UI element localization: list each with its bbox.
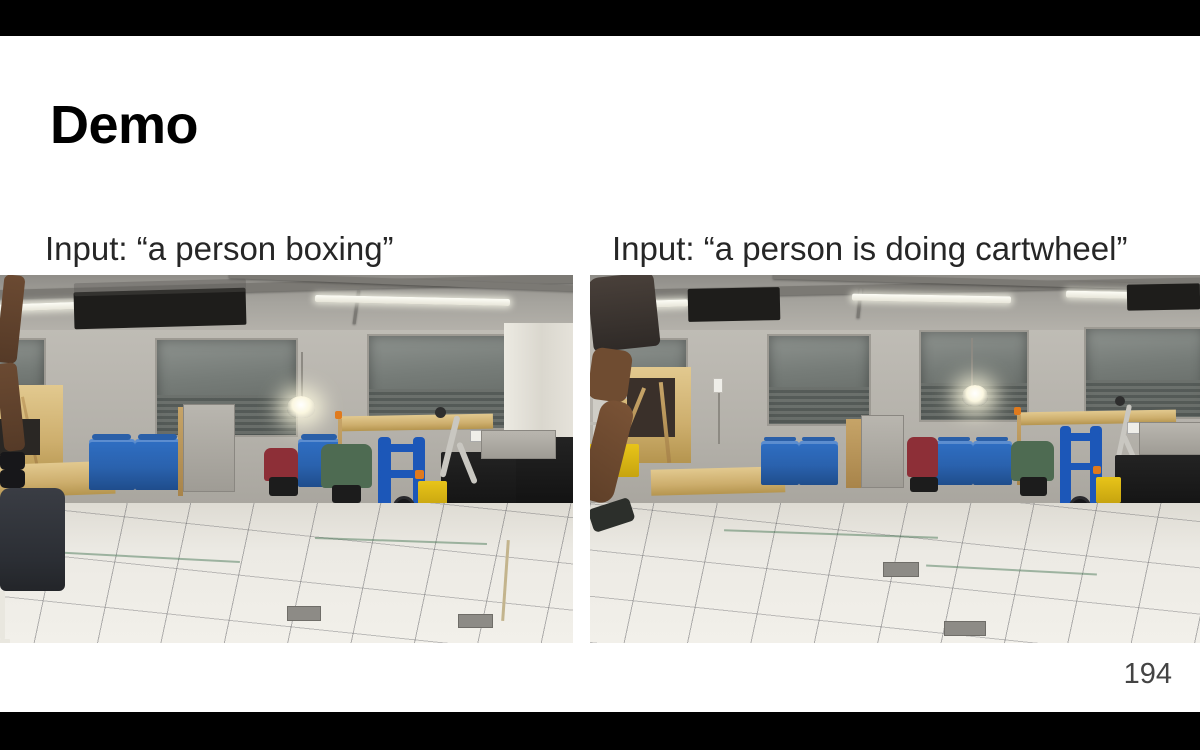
letterbox-top-bar [0,0,1200,36]
person-cartwheel [590,275,1200,643]
slide-canvas: Demo Input: “a person boxing” Input: “a … [0,36,1200,712]
slide-root: Demo Input: “a person boxing” Input: “a … [0,0,1200,750]
person-left-leg [0,275,25,364]
person-shoe-raised [590,497,635,533]
caption-left-panel: Input: “a person boxing” [45,231,394,267]
page-title: Demo [50,98,198,152]
person-right-shoe [0,470,25,488]
person-torso [0,488,65,591]
person-leg-raised [590,398,636,506]
person-boxing [0,275,573,643]
person-torso [590,275,661,352]
scene-left [0,275,573,643]
person-id-badge [0,639,10,643]
person-lanyard [0,591,5,639]
person-right-leg [0,362,25,452]
person-arm-supporting [590,346,633,403]
letterbox-bottom-bar [0,712,1200,750]
scene-right [590,275,1200,643]
video-frame-right-cartwheel[interactable] [590,275,1200,643]
video-frame-left-boxing[interactable] [0,275,573,643]
caption-right-panel: Input: “a person is doing cartwheel” [612,231,1127,267]
page-number: 194 [1124,658,1172,691]
person-left-shoe [0,452,25,470]
